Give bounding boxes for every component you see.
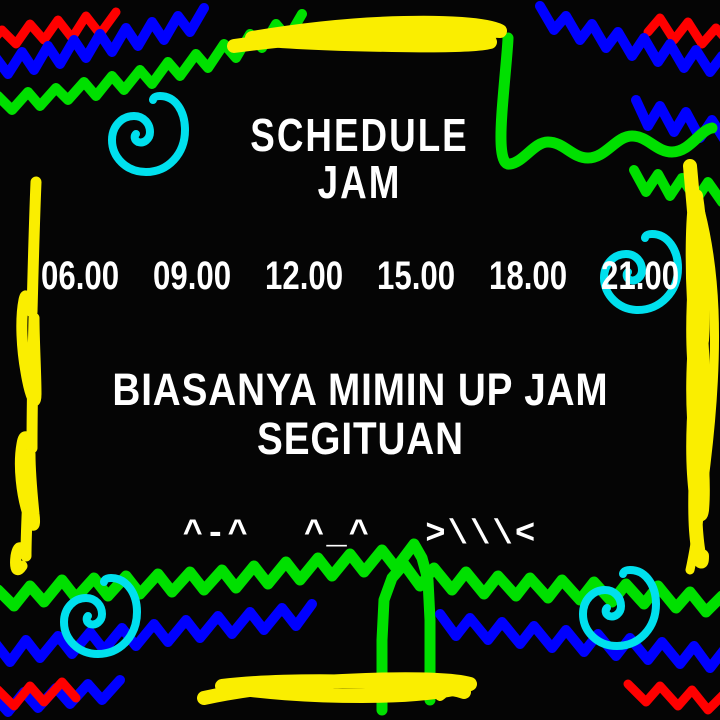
message-line-1: BIASANYA MIMIN UP JAM xyxy=(112,365,608,415)
poster-content: SCHEDULE JAM 06.00 09.00 12.00 15.00 18.… xyxy=(0,0,720,720)
schedule-time-4: 18.00 xyxy=(489,254,567,299)
emoticon-1: ^_^ xyxy=(304,516,371,554)
emoticon-2: >\\\< xyxy=(425,516,537,554)
schedule-time-5: 21.00 xyxy=(601,254,679,299)
poster-title-block: SCHEDULE JAM xyxy=(223,112,496,206)
page-title-line-1: SCHEDULE xyxy=(251,112,469,159)
schedule-times-row: 06.00 09.00 12.00 15.00 18.00 21.00 xyxy=(30,254,691,299)
schedule-time-0: 06.00 xyxy=(41,254,119,299)
message-line-2: SEGITUAN xyxy=(112,414,608,464)
emoticon-row: ^-^ ^_^ >\\\< xyxy=(183,516,537,554)
page-title-line-2: JAM xyxy=(251,159,469,206)
schedule-time-1: 09.00 xyxy=(153,254,231,299)
schedule-time-3: 15.00 xyxy=(377,254,455,299)
schedule-poster: SCHEDULE JAM 06.00 09.00 12.00 15.00 18.… xyxy=(0,0,720,720)
poster-message-block: BIASANYA MIMIN UP JAM SEGITUAN xyxy=(72,365,649,464)
schedule-time-2: 12.00 xyxy=(265,254,343,299)
emoticon-0: ^-^ xyxy=(183,516,250,554)
